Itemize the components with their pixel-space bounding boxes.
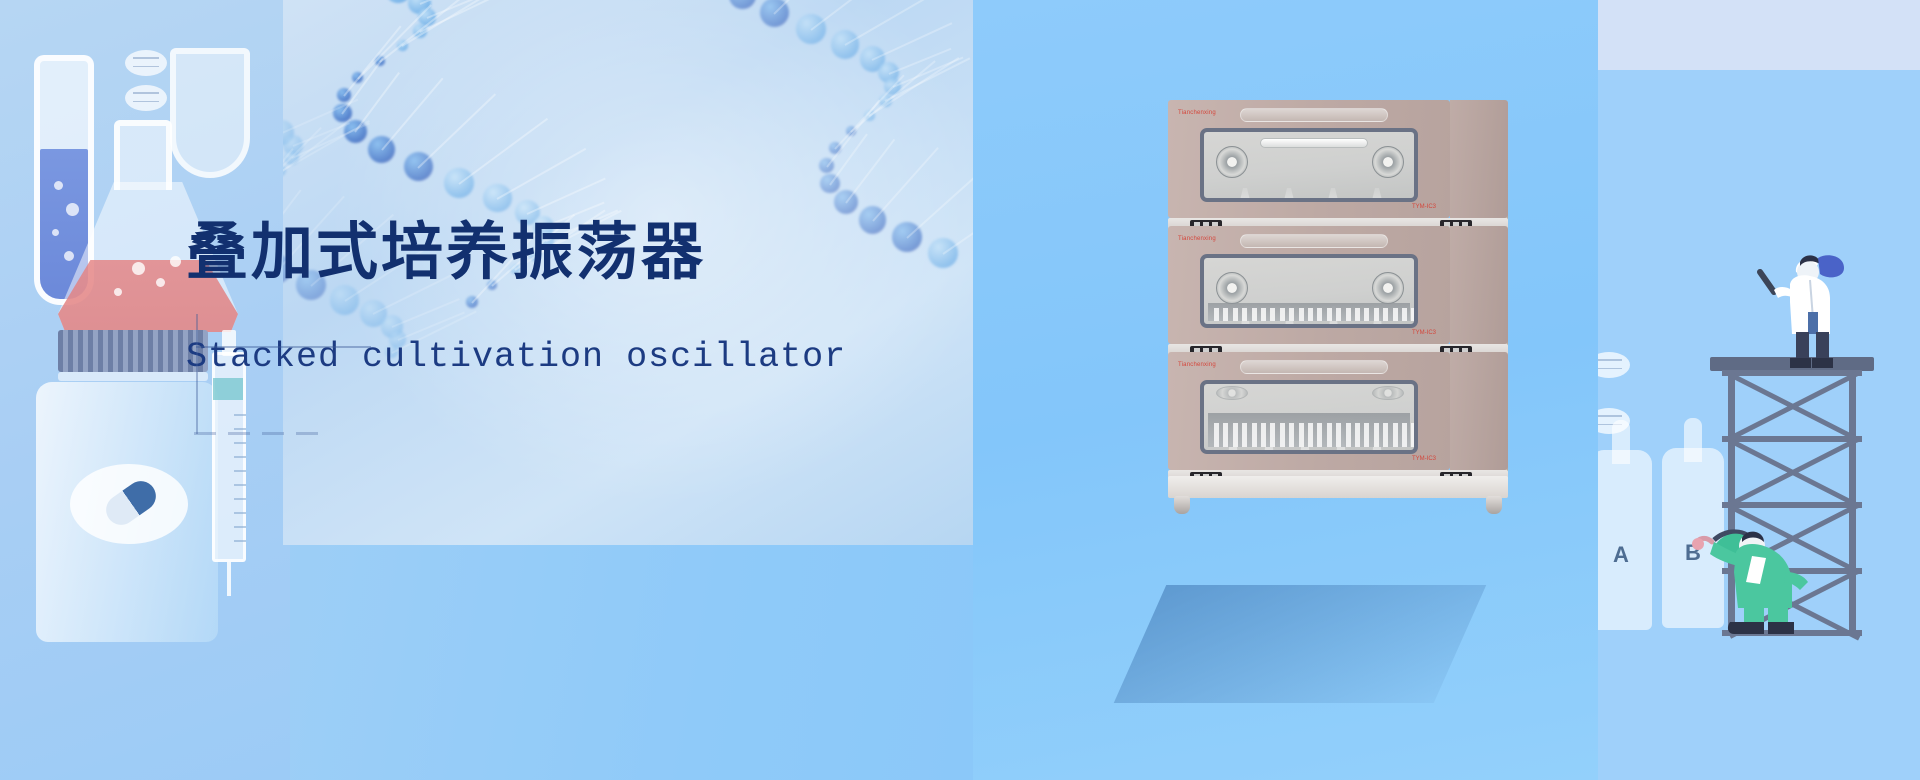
dna-rung	[527, 177, 606, 214]
test-tube-slot	[1261, 423, 1266, 447]
scientist-white-coat-telescope-icon	[1756, 250, 1866, 372]
dna-nucleotide	[829, 142, 841, 154]
dna-rung	[459, 118, 548, 185]
page-title-cn: 叠加式培养振荡器	[186, 218, 846, 289]
dna-rung	[419, 0, 487, 5]
dna-nucleotide	[760, 0, 789, 27]
model-label: TYM-IC3	[1412, 330, 1436, 336]
door-handle[interactable]	[1240, 108, 1388, 122]
test-tube-slot	[1393, 423, 1398, 447]
test-tube-slot	[1252, 308, 1257, 321]
pill-bottle-label	[70, 464, 188, 544]
dna-rung	[845, 139, 895, 204]
test-tube-slot	[1280, 308, 1285, 321]
dna-rung	[342, 58, 384, 114]
test-tube-slot	[1261, 308, 1266, 321]
dna-nucleotide	[892, 222, 922, 252]
circulation-fan	[1372, 146, 1404, 178]
circulation-fan	[1372, 386, 1404, 400]
test-tube-slot	[1336, 423, 1341, 447]
glass-door[interactable]	[1200, 128, 1418, 202]
test-tube-slot	[1280, 423, 1285, 447]
dna-nucleotide	[878, 62, 899, 83]
test-tube-slot	[1327, 308, 1332, 321]
test-tube-slot	[1223, 423, 1228, 447]
caster-wheel	[1486, 496, 1502, 514]
dna-nucleotide	[483, 184, 511, 212]
dna-rung	[826, 99, 880, 167]
dna-nucleotide	[418, 8, 436, 26]
dna-nucleotide	[344, 120, 367, 143]
tower-rail	[1722, 436, 1862, 442]
culture-flask	[1238, 188, 1252, 202]
dna-nucleotide	[413, 24, 427, 38]
dna-nucleotide	[864, 110, 875, 121]
caster-wheel	[1174, 496, 1190, 514]
dna-nucleotide	[408, 0, 430, 14]
equipment-shadow	[1114, 585, 1487, 703]
dna-rung	[844, 0, 935, 46]
shaker-tier-side	[1450, 100, 1508, 218]
dna-rung	[810, 0, 899, 31]
dna-rung	[829, 133, 868, 185]
dna-nucleotide	[352, 72, 363, 83]
dna-rung	[942, 191, 973, 254]
dna-nucleotide	[834, 190, 858, 214]
label-oval-2	[125, 85, 167, 111]
test-tube-slot	[1214, 308, 1219, 321]
dna-nucleotide	[819, 158, 834, 173]
circulation-fan	[1216, 272, 1248, 304]
test-tube-slot	[1402, 308, 1407, 321]
divider-vertical	[196, 314, 198, 434]
test-tube-slot	[1233, 423, 1238, 447]
dna-nucleotide	[283, 165, 286, 176]
dna-nucleotide	[846, 126, 856, 136]
dna-rung	[283, 120, 370, 173]
dna-rung	[283, 99, 358, 134]
ampoule-a-label: A	[1598, 542, 1652, 568]
pill-bottle-icon	[36, 382, 218, 642]
test-tube-slot	[1242, 423, 1247, 447]
test-tube-slot	[1374, 308, 1379, 321]
glass-door[interactable]	[1200, 380, 1418, 454]
dna-nucleotide	[333, 104, 351, 122]
dna-rung	[283, 148, 294, 218]
test-tube-slot	[1299, 308, 1304, 321]
dna-nucleotide	[284, 150, 299, 165]
scientist-green-coat-icon	[1690, 510, 1830, 638]
test-tube-slot	[1411, 308, 1416, 321]
label-oval-1	[125, 50, 167, 76]
door-handle[interactable]	[1240, 360, 1388, 374]
stacked-cultivation-shaker: TianchenxingTYM-IC3TianchenxingTYM-IC3Ti…	[1168, 100, 1508, 490]
shaker-tier-side	[1450, 226, 1508, 344]
test-tube-slot	[1223, 308, 1228, 321]
dna-rung	[293, 122, 351, 147]
test-tube-slot	[1242, 308, 1247, 321]
culture-flask	[1326, 188, 1340, 202]
dna-nucleotide	[368, 136, 395, 163]
dna-rung	[418, 93, 497, 168]
dna-rung	[354, 72, 400, 133]
brand-logo: Tianchenxing	[1178, 362, 1216, 368]
dna-rung	[402, 0, 493, 47]
dna-nucleotide	[444, 168, 474, 198]
model-label: TYM-IC3	[1412, 204, 1436, 210]
dna-rung	[892, 57, 963, 88]
dna-rung	[872, 22, 953, 61]
test-tube-slot	[1317, 423, 1322, 447]
decorative-dashes	[194, 432, 318, 435]
sample-tray	[1208, 413, 1410, 447]
shaker-tier: TianchenxingTYM-IC3	[1168, 100, 1450, 218]
test-tube-slot	[1214, 423, 1219, 447]
test-tube-slot	[1346, 423, 1351, 447]
dna-nucleotide	[283, 135, 303, 155]
dna-rung	[885, 58, 971, 103]
test-tube-slot	[1355, 423, 1360, 447]
ampoule-a: A	[1598, 420, 1652, 630]
culture-flask	[1370, 188, 1384, 202]
test-tube-slot	[1327, 423, 1332, 447]
test-tube-slot	[1270, 308, 1275, 321]
dna-nucleotide	[884, 78, 901, 95]
dna-rung	[291, 123, 370, 160]
dna-rung	[379, 0, 467, 63]
interior-light-bar	[1260, 138, 1368, 148]
dna-rung	[834, 74, 905, 149]
circulation-fan	[1216, 386, 1248, 400]
dna-rung	[283, 127, 321, 203]
machine-base	[1168, 476, 1508, 498]
dna-nucleotide	[860, 46, 886, 72]
shaker-tier-side	[1450, 352, 1508, 470]
dna-nucleotide	[397, 40, 408, 51]
dna-nucleotide	[879, 94, 892, 107]
shaker-tier: TianchenxingTYM-IC3	[1168, 226, 1450, 344]
sample-tray	[1208, 303, 1410, 321]
brand-logo: Tianchenxing	[1178, 110, 1216, 116]
page-subtitle-en: Stacked cultivation oscillator	[186, 337, 846, 377]
dna-rung	[357, 4, 432, 80]
dna-rung	[420, 0, 503, 33]
test-tube-slot	[1270, 423, 1275, 447]
test-tube-slot	[1299, 423, 1304, 447]
dna-rung	[869, 57, 960, 117]
dna-rung	[426, 0, 492, 19]
dna-nucleotide	[859, 206, 887, 234]
dna-rung	[283, 119, 351, 187]
test-tube-slot	[1308, 423, 1313, 447]
pill-icon	[100, 475, 161, 531]
test-tube-slot	[1317, 308, 1322, 321]
circulation-fan	[1372, 272, 1404, 304]
dna-rung	[888, 48, 951, 75]
dna-nucleotide	[928, 238, 958, 268]
brand-logo: Tianchenxing	[1178, 236, 1216, 242]
glass-door[interactable]	[1200, 254, 1418, 328]
dna-rung	[850, 61, 935, 133]
dna-nucleotide	[337, 88, 351, 102]
test-tube-slot	[1346, 308, 1351, 321]
circulation-fan	[1216, 146, 1248, 178]
model-label: TYM-IC3	[1412, 456, 1436, 462]
dna-nucleotide	[283, 120, 294, 145]
test-tube-slot	[1355, 308, 1360, 321]
shaker-tier: TianchenxingTYM-IC3	[1168, 352, 1450, 470]
test-tube-slot	[1411, 423, 1416, 447]
test-tube-slot	[1383, 308, 1388, 321]
dna-nucleotide	[729, 0, 756, 9]
test-tube-slot	[1252, 423, 1257, 447]
dna-rung	[872, 147, 939, 222]
dna-rung	[774, 0, 851, 14]
dna-nucleotide	[820, 174, 839, 193]
test-tube-slot	[1336, 308, 1341, 321]
dna-rung	[381, 78, 443, 151]
banner-text-block: 叠加式培养振荡器 Stacked cultivation oscillator	[186, 218, 846, 377]
dna-nucleotide	[796, 14, 826, 44]
test-tube-slot	[1364, 308, 1369, 321]
dna-rung	[906, 165, 973, 239]
tower-rail	[1722, 502, 1862, 508]
dna-rung	[343, 26, 401, 97]
left-illustration-panel	[0, 0, 290, 780]
test-tube-slot	[1233, 308, 1238, 321]
dna-nucleotide	[385, 0, 412, 3]
door-handle[interactable]	[1240, 234, 1388, 248]
dna-nucleotide	[404, 152, 433, 181]
test-tube-slot	[1289, 423, 1294, 447]
product-banner: TianchenxingTYM-IC3TianchenxingTYM-IC3Ti…	[0, 0, 1920, 780]
test-tube-slot	[1374, 423, 1379, 447]
test-tube-slot	[1393, 308, 1398, 321]
test-tube-slot	[1402, 423, 1407, 447]
dna-rung	[497, 148, 587, 200]
dna-nucleotide	[375, 56, 385, 66]
test-tube-slot	[1289, 308, 1294, 321]
divider-horizontal	[196, 346, 371, 348]
test-tube-slot	[1308, 308, 1313, 321]
dna-nucleotide	[831, 30, 860, 59]
test-tube-slot	[1364, 423, 1369, 447]
culture-flask	[1282, 188, 1296, 202]
test-tube-slot	[1383, 423, 1388, 447]
